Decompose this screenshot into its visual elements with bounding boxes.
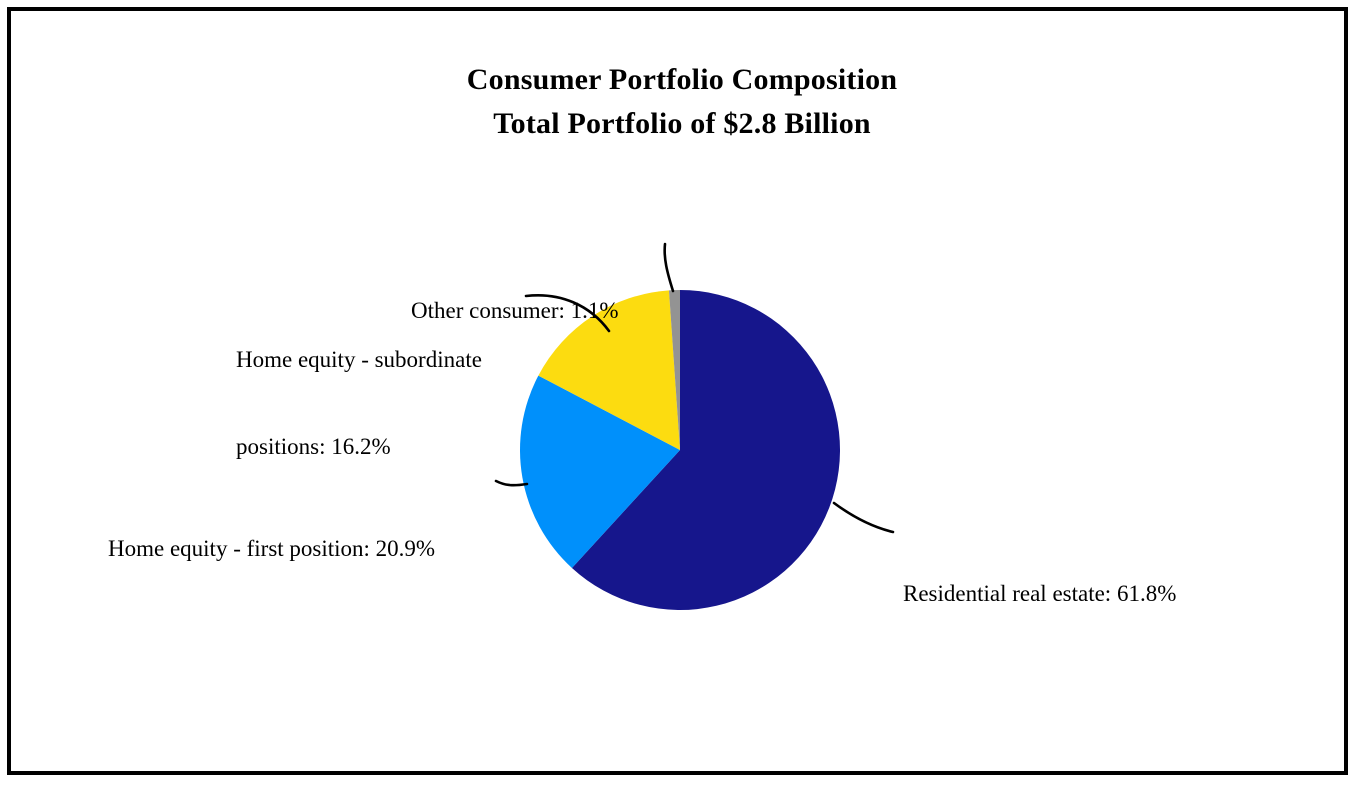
leader-line-home-equity-first: [496, 481, 527, 485]
slice-label-residential-real-estate-text: Residential real estate: 61.8%: [903, 579, 1176, 608]
slice-label-residential-real-estate: Residential real estate: 61.8%: [903, 521, 1176, 666]
pie-chart-figure: Consumer Portfolio Composition Total Por…: [0, 0, 1364, 786]
leader-line-other-consumer: [665, 244, 673, 291]
slice-label-home-equity-first-position: Home equity - first position: 20.9%: [108, 476, 435, 621]
slice-label-home-equity-subordinate-line-1: Home equity - subordinate: [236, 345, 482, 374]
slice-label-home-equity-first-position-text: Home equity - first position: 20.9%: [108, 534, 435, 563]
slice-label-home-equity-subordinate-line-2: positions: 16.2%: [236, 432, 482, 461]
pie-chart-graphic: [0, 0, 1364, 786]
leader-line-residential: [834, 503, 893, 532]
